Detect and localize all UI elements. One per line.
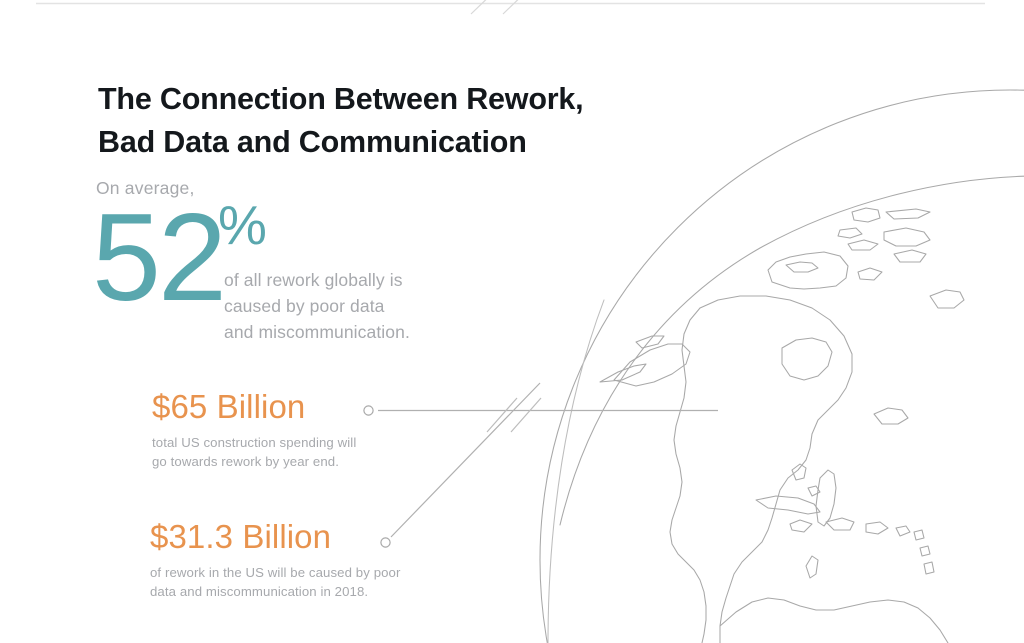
figure-block-313b: $31.3 Billion of rework in the US will b… [150,520,401,601]
global-stat-caption-line-2: caused by poor data [224,294,484,320]
figure-value-65b: $65 Billion [152,390,356,423]
figure-caption-65b-line-1: total US construction spending will [152,434,356,453]
figure-value-313b: $31.3 Billion [150,520,401,553]
figure-caption-313b: of rework in the US will be caused by po… [150,564,401,601]
stat-percent-symbol: % [218,198,266,253]
figure-caption-313b-line-1: of rework in the US will be caused by po… [150,564,401,583]
global-stat-caption-line-1: of all rework globally is [224,268,484,294]
figure-caption-65b-line-2: go towards rework by year end. [152,453,356,472]
global-stat-caption: of all rework globally is caused by poor… [224,268,484,346]
stat-number: 52 [92,196,224,320]
figure-caption-313b-line-2: data and miscommunication in 2018. [150,583,401,602]
content-layer: The Connection Between Rework, Bad Data … [0,0,1024,643]
figure-block-65b: $65 Billion total US construction spendi… [152,390,356,471]
infographic-canvas: The Connection Between Rework, Bad Data … [0,0,1024,643]
global-stat-caption-line-3: and miscommunication. [224,320,484,346]
figure-caption-65b: total US construction spending will go t… [152,434,356,471]
headline-line-1: The Connection Between Rework, [98,78,718,120]
page-title: The Connection Between Rework, Bad Data … [98,78,718,163]
headline-line-2: Bad Data and Communication [98,121,718,163]
